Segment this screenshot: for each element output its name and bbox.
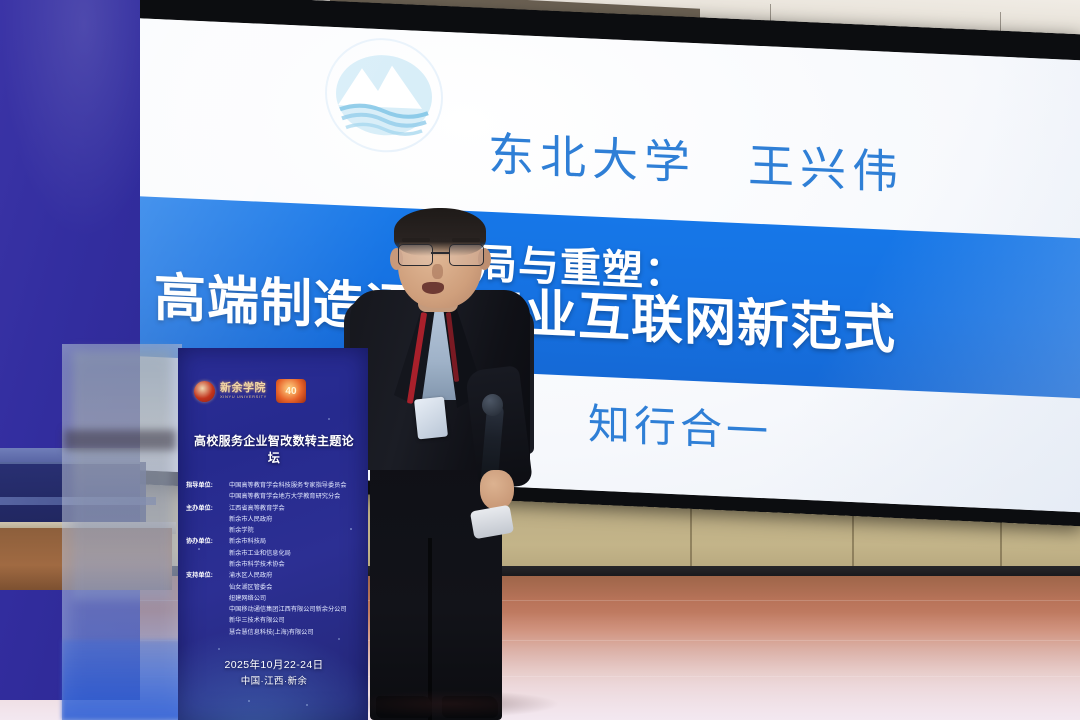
organizer-value: 中国移动通信集团江西有限公司新余分公司: [229, 604, 347, 615]
organizer-value: 仙女湖区管委会: [229, 582, 347, 593]
organizer-value: 新华三技术有限公司: [229, 615, 347, 626]
glasses-icon: [398, 244, 484, 266]
speaker-nose: [432, 264, 443, 279]
xinyu-university-seal-icon: [194, 381, 215, 402]
organizer-label: 协办单位:: [186, 536, 226, 570]
lectern-acrylic-glow: [62, 640, 182, 720]
organizer-list: 指导单位: 中国高等教育学会科技服务专家指导委员会 中国高等教育学会地方大学教育…: [186, 480, 364, 638]
lectern-seal-en: XINYU UNIVERSITY: [220, 394, 267, 399]
organizer-value: 慧合慧信息科技(上海)有限公司: [229, 627, 347, 638]
organizer-row: 协办单位: 新余市科技局 新余市工业和信息化局 新余市科学技术协会: [186, 536, 364, 570]
organizer-value: 新余市人民政府: [229, 514, 285, 525]
organizer-value: 新余市科学技术协会: [229, 559, 291, 570]
organizer-row: 支持单位: 渝水区人民政府 仙女湖区管委会 纽建网络公司 中国移动通信集团江西有…: [186, 570, 364, 638]
forum-date-location: 2025年10月22-24日 中国·江西·新余: [188, 657, 360, 690]
organizer-value: 新余市工业和信息化局: [229, 548, 291, 559]
organizer-label: 支持单位:: [186, 570, 226, 638]
anniversary-badge-icon: 40: [276, 379, 306, 403]
organizer-value: 渝水区人民政府: [229, 570, 347, 581]
speaker-mouth: [422, 282, 444, 294]
slide-speaker-name: 王兴伟: [748, 139, 904, 198]
organizer-value: 新余学院: [229, 525, 285, 536]
organizer-value: 纽建网络公司: [229, 593, 347, 604]
organizer-label: 主办单位:: [186, 503, 226, 537]
speaker-floor-shadow: [340, 690, 560, 718]
slide-institution: 东北大学: [488, 128, 696, 189]
lectern-acrylic-shade: [64, 430, 176, 450]
forum-title: 高校服务企业智改数转主题论坛: [188, 432, 360, 466]
slide-motto-part2: 知行合一: [588, 400, 772, 455]
forum-location: 中国·江西·新余: [188, 674, 360, 690]
lectern-seal-cn: 新余学院: [220, 383, 267, 395]
lectern-info-panel: 新余学院 XINYU UNIVERSITY 40 高校服务企业智改数转主题论坛 …: [178, 348, 368, 720]
organizer-row: 指导单位: 中国高等教育学会科技服务专家指导委员会 中国高等教育学会地方大学教育…: [186, 480, 364, 503]
conference-photo-scene: 东北大学王兴伟 破局与重塑： 高端制造迈向工业互联网新范式 自强不息知行合一: [0, 0, 1080, 720]
lectern-logo-row: 新余学院 XINYU UNIVERSITY 40: [194, 376, 354, 406]
organizer-value: 中国高等教育学会科技服务专家指导委员会: [229, 480, 347, 491]
speaker-badge-card: [414, 397, 448, 440]
organizer-label: 指导单位:: [186, 480, 226, 503]
mountain-wave-university-emblem: [318, 32, 450, 170]
organizer-value: 新余市科技局: [229, 536, 291, 547]
speaker-hand-notes: [470, 505, 514, 540]
speaker-hand-right: [480, 470, 514, 510]
organizer-value: 中国高等教育学会地方大学教育研究分会: [229, 491, 347, 502]
organizer-value: 江西省高等教育学会: [229, 503, 285, 514]
forum-date: 2025年10月22-24日: [188, 657, 360, 674]
organizer-row: 主办单位: 江西省高等教育学会 新余市人民政府 新余学院: [186, 503, 364, 537]
